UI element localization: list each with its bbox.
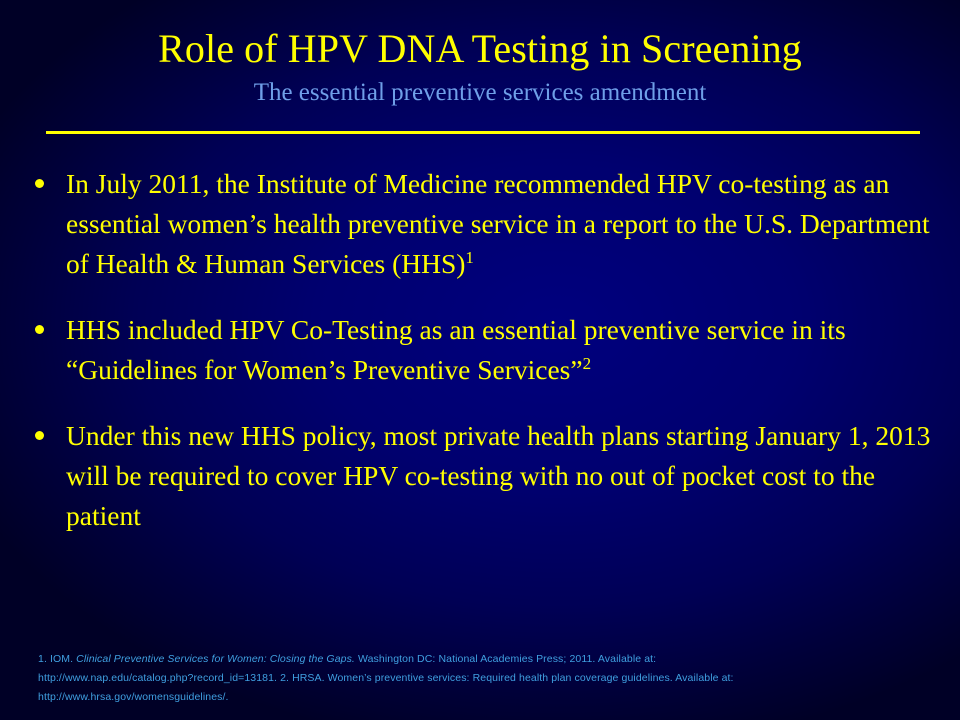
title-divider-rule [46, 131, 920, 134]
footnote-1-prefix: 1. IOM. [38, 653, 76, 665]
list-item-body: Under this new HHS policy, most private … [66, 420, 930, 531]
list-item-text: HHS included HPV Co-Testing as an essent… [66, 310, 938, 390]
list-item-text: In July 2011, the Institute of Medicine … [66, 164, 938, 284]
bullet-list: In July 2011, the Institute of Medicine … [26, 164, 938, 536]
list-item-body: In July 2011, the Institute of Medicine … [66, 168, 930, 279]
page-title: Role of HPV DNA Testing in Screening [0, 26, 960, 72]
title-block: Role of HPV DNA Testing in Screening The… [0, 26, 960, 108]
footnote-line-2: http://www.nap.edu/catalog.php?record_id… [38, 669, 928, 688]
list-item-body: HHS included HPV Co-Testing as an essent… [66, 314, 846, 385]
bullet-dot-icon [35, 431, 44, 440]
footnote-1-title: Clinical Preventive Services for Women: … [76, 653, 355, 665]
list-item: HHS included HPV Co-Testing as an essent… [26, 310, 938, 390]
list-item: In July 2011, the Institute of Medicine … [26, 164, 938, 284]
footnote-block: 1. IOM. Clinical Preventive Services for… [38, 650, 928, 707]
footnote-marker: 2 [583, 354, 592, 373]
slide-canvas: Role of HPV DNA Testing in Screening The… [0, 0, 960, 720]
list-item: Under this new HHS policy, most private … [26, 416, 938, 536]
footnote-line-3: http://www.hrsa.gov/womensguidelines/. [38, 688, 928, 707]
footnote-line-1: 1. IOM. Clinical Preventive Services for… [38, 650, 928, 669]
list-item-text: Under this new HHS policy, most private … [66, 416, 938, 536]
bullet-dot-icon [35, 325, 44, 334]
bullet-dot-icon [35, 179, 44, 188]
footnote-1-suffix: Washington DC: National Academies Press;… [355, 653, 656, 665]
footnote-marker: 1 [465, 248, 474, 267]
page-subtitle: The essential preventive services amendm… [0, 78, 960, 108]
